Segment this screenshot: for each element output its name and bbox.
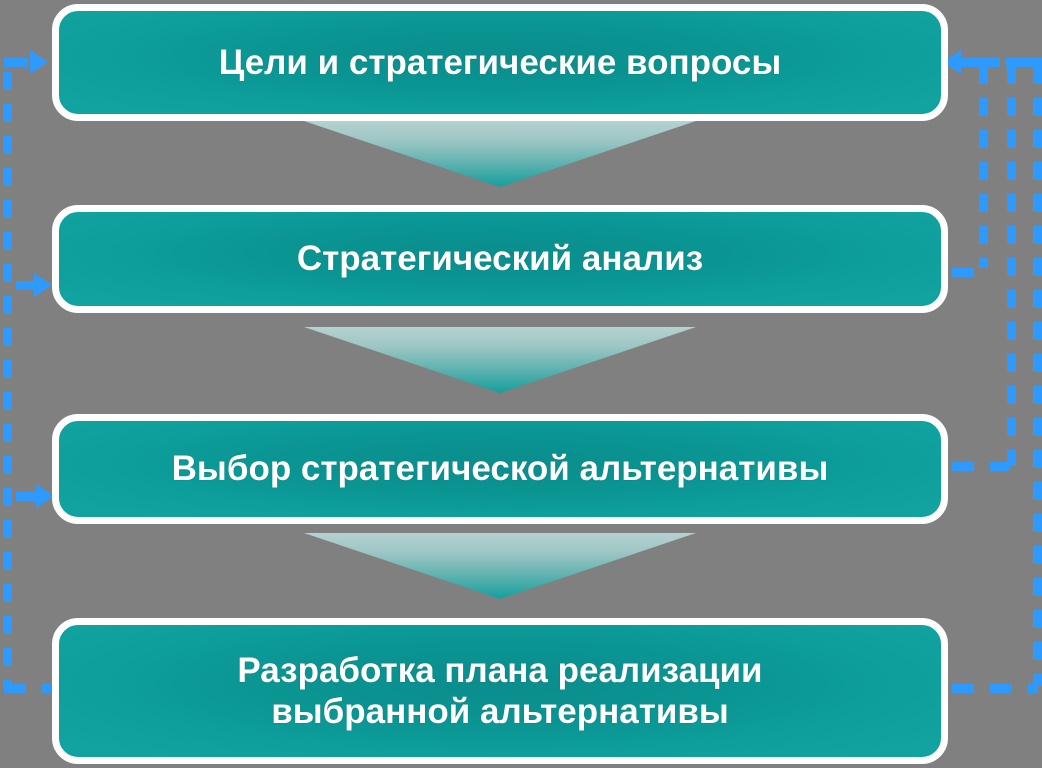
process-box-alternative[interactable]: Выбор стратегической альтернативы: [52, 414, 948, 524]
feedback-into-alternative-line: [16, 492, 38, 501]
process-box-analysis-label: Стратегический анализ: [279, 238, 721, 279]
feedback-return-vertical-inner: [979, 66, 988, 268]
feedback-from-alternative-right-dash: [952, 462, 1010, 471]
feedback-from-analysis-right-dash: [952, 268, 982, 277]
feedback-return-vertical-middle: [1007, 66, 1016, 466]
down-arrow-icon: [304, 121, 696, 187]
process-box-alternative-label: Выбор стратегической альтернативы: [154, 448, 847, 489]
process-box-goals-label: Цели и стратегические вопросы: [201, 42, 800, 83]
process-box-goals[interactable]: Цели и стратегические вопросы: [52, 4, 948, 121]
feedback-into-goals-line: [4, 58, 28, 67]
process-box-plan[interactable]: Разработка плана реализации выбранной ал…: [52, 618, 948, 764]
process-box-plan-label: Разработка плана реализации выбранной ал…: [219, 650, 780, 733]
feedback-left-vertical-line: [3, 72, 12, 688]
feedback-into-analysis-line: [16, 281, 36, 290]
down-arrow-icon: [304, 327, 696, 393]
process-box-analysis[interactable]: Стратегический анализ: [52, 205, 948, 313]
diagram-canvas: Цели и стратегические вопросы Стратегиче…: [0, 0, 1042, 768]
feedback-return-vertical-outer: [1033, 66, 1042, 686]
down-arrow-icon: [304, 533, 696, 599]
feedback-into-goals-arrowhead: [30, 50, 48, 74]
feedback-into-analysis-arrowhead: [34, 273, 52, 297]
feedback-from-plan-right-dash: [952, 684, 1038, 693]
